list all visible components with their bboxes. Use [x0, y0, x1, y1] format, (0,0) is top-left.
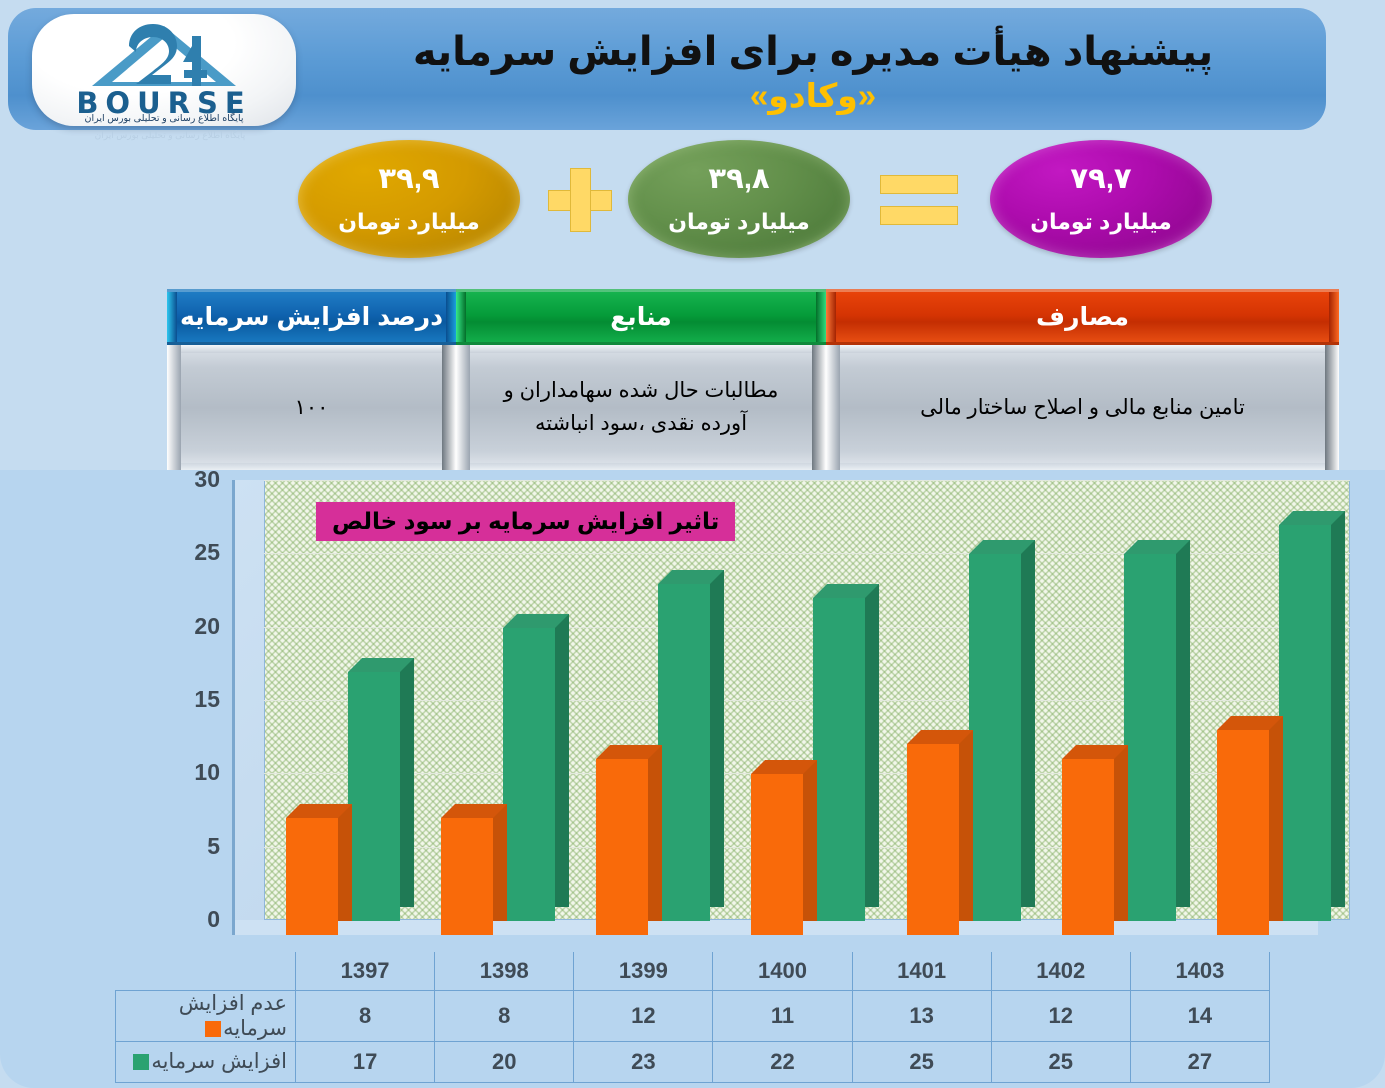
table-cell: 8 [435, 990, 574, 1041]
header-title-group: پیشنهاد هیأت مدیره برای افزایش سرمایه «و… [308, 16, 1318, 128]
column-body-text: مطالبات حال شده سهامداران و آورده نقدی ،… [482, 375, 800, 440]
chart-side-wall [232, 480, 264, 935]
column-header-label: منابع [610, 302, 672, 332]
info-columns: درصد افزایش سرمایه ۱۰۰ منابع مطالبات حال… [167, 289, 1339, 471]
summary-unit: میلیارد تومان [668, 211, 810, 233]
chart-data-table: 1397139813991400140114021403 عدم افزایش … [115, 952, 1270, 1083]
y-tick-label: 30 [154, 466, 220, 493]
summary-unit: میلیارد تومان [338, 211, 480, 233]
bar-عدم-افزایش-سرمایه [1217, 730, 1269, 935]
y-tick-label: 25 [154, 539, 220, 566]
summary-unit: میلیارد تومان [1030, 211, 1172, 233]
plus-icon [548, 168, 612, 232]
bar-group [1040, 495, 1195, 935]
table-header-row: 1397139813991400140114021403 [116, 952, 1270, 990]
y-tick-label: 15 [154, 686, 220, 713]
legend-series-name: عدم افزایش سرمایه [179, 992, 287, 1040]
column-body-text: ۱۰۰ [295, 392, 329, 425]
bar-افزایش-سرمایه [969, 554, 1021, 921]
bar-عدم-افزایش-سرمایه [286, 818, 338, 935]
bar-عدم-افزایش-سرمایه [596, 759, 648, 935]
table-column-header: 1401 [852, 952, 991, 990]
table-cell: 12 [991, 990, 1130, 1041]
table-cell: 12 [574, 990, 713, 1041]
bar-افزایش-سرمایه [348, 672, 400, 921]
table-cell: 17 [296, 1041, 435, 1082]
table-head: 1397139813991400140114021403 [116, 952, 1270, 990]
column-sources: منابع مطالبات حال شده سهامداران و آورده … [456, 289, 826, 471]
logo-watermark: پایگاه اطلاع رسانی و تحلیلی بورس ایران [40, 130, 300, 141]
table-cell: 8 [296, 990, 435, 1041]
table-column-header: 1398 [435, 952, 574, 990]
table-cell: 27 [1130, 1041, 1269, 1082]
column-header-label: مصارف [1036, 302, 1129, 332]
legend-swatch [205, 1021, 221, 1037]
summary-value: ۳۹,۸ [708, 165, 769, 194]
table-column-header: 1397 [296, 952, 435, 990]
table-cell: 13 [852, 990, 991, 1041]
table-cell: 14 [1130, 990, 1269, 1041]
gridline [264, 480, 1350, 481]
column-body-uses: تامین منابع مالی و اصلاح ساختار مالی [826, 345, 1339, 471]
infographic-page: پیشنهاد هیأت مدیره برای افزایش سرمایه «و… [0, 0, 1385, 1088]
y-tick-label: 10 [154, 759, 220, 786]
legend-row-label: افزایش سرمایه [116, 1041, 296, 1082]
bar-group [574, 495, 729, 935]
summary-value: ۷۹,۷ [1070, 165, 1131, 194]
table-cell: 23 [574, 1041, 713, 1082]
table-row: افزایش سرمایه17202322252527 [116, 1041, 1270, 1082]
table-cell: 20 [435, 1041, 574, 1082]
chart-plot-area: 051015202530 تاثیر افزایش سرمایه بر سود … [232, 480, 1350, 935]
bar-افزایش-سرمایه [1124, 554, 1176, 921]
bar-group [729, 495, 884, 935]
column-header-sources: منابع [456, 289, 826, 345]
legend-series-name: افزایش سرمایه [151, 1050, 287, 1073]
table-row: عدم افزایش سرمایه881211131214 [116, 990, 1270, 1041]
bar-افزایش-سرمایه [503, 628, 555, 921]
table-column-header: 1402 [991, 952, 1130, 990]
bar-افزایش-سرمایه [658, 584, 710, 921]
y-tick-label: 0 [154, 906, 220, 933]
chart-y-axis-line [232, 480, 235, 935]
bar-group [885, 495, 1040, 935]
bar-عدم-افزایش-سرمایه [751, 774, 803, 935]
page-title: پیشنهاد هیأت مدیره برای افزایش سرمایه [413, 29, 1213, 75]
column-header-uses: مصارف [826, 289, 1339, 345]
column-capital-percent: درصد افزایش سرمایه ۱۰۰ [167, 289, 456, 471]
y-tick-label: 20 [154, 613, 220, 640]
bourse24-triangle-icon [84, 22, 244, 92]
table-column-header: 1403 [1130, 952, 1269, 990]
table-corner-cell [116, 952, 296, 990]
summary-value: ۳۹,۹ [378, 165, 439, 194]
bar-افزایش-سرمایه [813, 598, 865, 921]
bar-group [1195, 495, 1350, 935]
bourse24-logo: BOURSE پایگاه اطلاع رسانی و تحلیلی بورس … [32, 14, 296, 126]
table-cell: 22 [713, 1041, 852, 1082]
bar-عدم-افزایش-سرمایه [907, 744, 959, 935]
y-tick-label: 5 [154, 833, 220, 860]
column-header-capital-percent: درصد افزایش سرمایه [167, 289, 456, 345]
bar-group [419, 495, 574, 935]
logo-tagline: پایگاه اطلاع رسانی و تحلیلی بورس ایران [32, 113, 296, 124]
column-body-sources: مطالبات حال شده سهامداران و آورده نقدی ،… [456, 345, 826, 471]
summary-capital-total: ۷۹,۷ میلیارد تومان [990, 140, 1212, 258]
chart-title: تاثیر افزایش سرمایه بر سود خالص [316, 502, 735, 541]
table-cell: 25 [991, 1041, 1130, 1082]
legend-row-label: عدم افزایش سرمایه [116, 990, 296, 1041]
table-cell: 11 [713, 990, 852, 1041]
summary-capital-increase: ۳۹,۸ میلیارد تومان [628, 140, 850, 258]
table-column-header: 1400 [713, 952, 852, 990]
legend-swatch [133, 1054, 149, 1070]
table-body: عدم افزایش سرمایه881211131214افزایش سرما… [116, 990, 1270, 1082]
column-body-text: تامین منابع مالی و اصلاح ساختار مالی [920, 392, 1245, 425]
column-header-label: درصد افزایش سرمایه [180, 302, 443, 332]
summary-capital-current: ۳۹,۹ میلیارد تومان [298, 140, 520, 258]
chart-y-axis-label: میلیارد تومان [72, 1066, 108, 1088]
bar-group [264, 495, 419, 935]
column-uses: مصارف تامین منابع مالی و اصلاح ساختار ما… [826, 289, 1339, 471]
table-cell: 25 [852, 1041, 991, 1082]
page-subtitle: «وکادو» [750, 77, 876, 115]
equals-icon [880, 175, 958, 227]
column-body-capital-percent: ۱۰۰ [167, 345, 456, 471]
bar-افزایش-سرمایه [1279, 525, 1331, 921]
bar-عدم-افزایش-سرمایه [1062, 759, 1114, 935]
table-column-header: 1399 [574, 952, 713, 990]
bar-عدم-افزایش-سرمایه [441, 818, 493, 935]
